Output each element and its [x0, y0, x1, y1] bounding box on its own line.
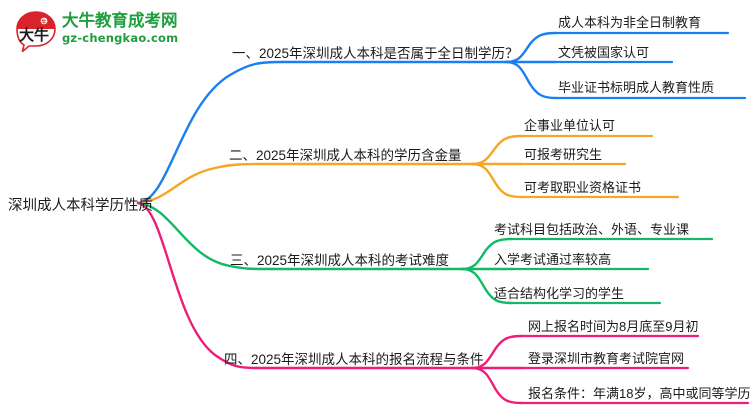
leaf-label-1-3[interactable]: 毕业证书标明成人教育性质 — [558, 77, 714, 96]
branch-label-3[interactable]: 三、2025年深圳成人本科的考试难度 — [230, 249, 449, 269]
logo-subtitle: gz-chengkao.com — [62, 31, 194, 46]
leaf-label-4-1[interactable]: 网上报名时间为8月底至9月初 — [528, 316, 698, 335]
branch-label-4[interactable]: 四、2025年深圳成人本科的报名流程与条件 — [224, 348, 484, 368]
svg-text:牛: 牛 — [41, 18, 47, 26]
leaf-label-3-1[interactable]: 考试科目包括政治、外语、专业课 — [494, 219, 689, 238]
leaf-label-2-2[interactable]: 可报考研究生 — [524, 144, 602, 163]
leaf-label-4-2[interactable]: 登录深圳市教育考试院官网 — [528, 348, 684, 367]
leaf-label-2-1[interactable]: 企事业单位认可 — [524, 115, 615, 134]
leaf-label-3-2[interactable]: 入学考试通过率较高 — [494, 249, 611, 268]
mindmap-canvas: 牛 大牛 大牛教育成考网 gz-chengkao.com — [0, 0, 750, 410]
daniu-bull-mark-icon: 牛 大牛 — [14, 10, 58, 52]
site-logo[interactable]: 牛 大牛 大牛教育成考网 gz-chengkao.com — [14, 8, 194, 56]
svg-text:大牛: 大牛 — [19, 26, 49, 44]
leaf-label-2-3[interactable]: 可考取职业资格证书 — [524, 177, 641, 196]
logo-title: 大牛教育成考网 — [62, 11, 194, 31]
leaf-label-1-2[interactable]: 文凭被国家认可 — [558, 42, 649, 61]
leaf-label-1-1[interactable]: 成人本科为非全日制教育 — [558, 12, 701, 31]
logo-text: 大牛教育成考网 gz-chengkao.com — [62, 11, 194, 46]
branch-label-1[interactable]: 一、2025年深圳成人本科是否属于全日制学历？ — [232, 42, 519, 62]
branch-label-2[interactable]: 二、2025年深圳成人本科的学历含金量 — [229, 144, 462, 164]
leaf-label-4-3[interactable]: 报名条件：年满18岁，高中或同等学历 — [528, 383, 750, 402]
mindmap-root-label[interactable]: 深圳成人本科学历性质 — [8, 194, 153, 215]
leaf-label-3-3[interactable]: 适合结构化学习的学生 — [494, 283, 624, 302]
